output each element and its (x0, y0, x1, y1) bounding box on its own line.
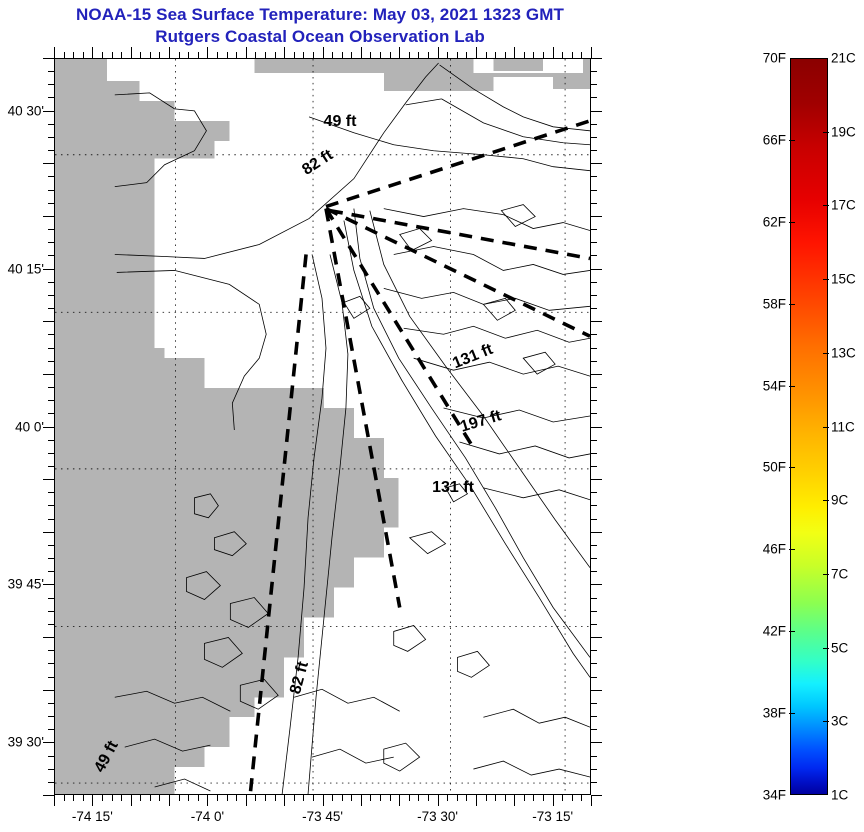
axis-tick (43, 584, 54, 585)
axis-tick (48, 400, 54, 401)
axis-tick (476, 795, 477, 806)
axis-tick (48, 611, 54, 612)
axis-tick (399, 47, 400, 58)
axis-tick (553, 47, 554, 58)
axis-tick (581, 795, 582, 801)
axis-tick (43, 532, 54, 533)
axis-tick (48, 466, 54, 467)
axis-tick (48, 387, 54, 388)
axis-tick (591, 361, 597, 362)
axis-tick (140, 795, 141, 801)
axis-tick (466, 795, 467, 801)
axis-tick (591, 58, 602, 59)
axis-tick (48, 663, 54, 664)
colorbar-label-celsius: 19C (831, 124, 856, 139)
axis-tick (92, 47, 93, 58)
axis-tick (591, 663, 597, 664)
axis-tick (591, 703, 597, 704)
axis-tick (179, 52, 180, 58)
axis-tick (121, 795, 122, 801)
axis-tick (591, 769, 597, 770)
axis-tick (591, 229, 597, 230)
axis-tick (207, 47, 208, 58)
axis-tick (112, 795, 113, 801)
x-axis-ticks-top (54, 46, 591, 58)
axis-tick (409, 52, 410, 58)
axis-tick (48, 255, 54, 256)
axis-tick (294, 795, 295, 801)
axis-tick (48, 756, 54, 757)
colorbar-label-fahrenheit: 58F (763, 296, 786, 311)
axis-tick (48, 598, 54, 599)
axis-tick (562, 52, 563, 58)
axis-tick (370, 795, 371, 801)
axis-tick (591, 255, 597, 256)
axis-tick (591, 400, 597, 401)
axis-tick (131, 47, 132, 58)
axis-tick (591, 387, 597, 388)
colorbar-tick (823, 353, 829, 354)
axis-tick (591, 637, 602, 638)
axis-tick (265, 795, 266, 801)
colorbar-label-celsius: 15C (831, 272, 856, 287)
colorbar-tick (789, 467, 795, 468)
axis-tick (332, 795, 333, 801)
axis-tick (207, 795, 208, 806)
colorbar-tick (823, 721, 829, 722)
axis-tick (447, 795, 448, 801)
axis-tick (438, 47, 439, 58)
axis-tick (48, 545, 54, 546)
axis-tick (48, 413, 54, 414)
axis-tick (188, 795, 189, 801)
x-axis-tick-label: -73 30' (417, 809, 458, 824)
axis-tick (48, 571, 54, 572)
colorbar-label-fahrenheit: 34F (763, 788, 786, 803)
axis-tick (92, 795, 93, 806)
axis-tick (409, 795, 410, 801)
axis-tick (217, 52, 218, 58)
axis-tick (48, 242, 54, 243)
colorbar-tick (789, 140, 795, 141)
axis-tick (275, 52, 276, 58)
axis-tick (303, 52, 304, 58)
axis-tick (591, 742, 602, 743)
axis-tick (102, 52, 103, 58)
axis-tick (236, 795, 237, 801)
axis-tick (236, 52, 237, 58)
axis-tick (581, 52, 582, 58)
axis-tick (43, 479, 54, 480)
axis-tick (457, 52, 458, 58)
axis-tick (514, 795, 515, 806)
axis-tick (43, 58, 54, 59)
axis-tick (159, 52, 160, 58)
axis-tick (591, 782, 597, 783)
title-line-2: Rutgers Coastal Ocean Observation Lab (0, 26, 640, 48)
axis-tick (43, 427, 54, 428)
axis-tick (48, 71, 54, 72)
axis-tick (390, 795, 391, 801)
colorbar-label-celsius: 7C (831, 566, 848, 581)
axis-tick (543, 795, 544, 801)
axis-tick (48, 519, 54, 520)
colorbar-label-celsius: 11C (831, 419, 855, 434)
axis-tick (562, 795, 563, 801)
axis-tick (332, 52, 333, 58)
axis-tick (169, 795, 170, 806)
axis-tick (486, 795, 487, 801)
colorbar-tick (823, 132, 829, 133)
axis-tick (313, 52, 314, 58)
axis-tick (591, 413, 597, 414)
axis-tick (43, 321, 54, 322)
axis-tick (48, 137, 54, 138)
axis-tick (591, 571, 597, 572)
axis-tick (140, 52, 141, 58)
axis-tick (48, 348, 54, 349)
axis-tick (476, 47, 477, 58)
axis-tick (447, 52, 448, 58)
colorbar-label-celsius: 3C (831, 714, 848, 729)
axis-tick (48, 176, 54, 177)
axis-tick (380, 795, 381, 801)
axis-tick (48, 229, 54, 230)
colorbar-tick (789, 713, 795, 714)
axis-tick (591, 795, 592, 806)
axis-tick (342, 795, 343, 801)
colorbar-tick (789, 304, 795, 305)
axis-tick (48, 84, 54, 85)
axis-tick (284, 47, 285, 58)
axis-tick (543, 52, 544, 58)
colorbar-label-celsius: 17C (831, 198, 856, 213)
y-axis-ticks-right (591, 58, 603, 795)
axis-tick (43, 374, 54, 375)
axis-tick (48, 492, 54, 493)
axis-tick (351, 52, 352, 58)
colorbar-tick (823, 279, 829, 280)
title-line-1: NOAA-15 Sea Surface Temperature: May 03,… (0, 4, 640, 26)
colorbar-tick (789, 222, 795, 223)
axis-tick (533, 52, 534, 58)
axis-tick (64, 52, 65, 58)
axis-tick (399, 795, 400, 806)
axis-tick (48, 677, 54, 678)
axis-tick (83, 52, 84, 58)
axis-tick (591, 163, 602, 164)
axis-tick (83, 795, 84, 801)
axis-tick (102, 795, 103, 801)
axis-tick (591, 97, 597, 98)
axis-tick (303, 795, 304, 801)
axis-tick (591, 519, 597, 520)
axis-tick (150, 52, 151, 58)
axis-tick (572, 52, 573, 58)
axis-tick (591, 137, 597, 138)
axis-tick (495, 795, 496, 801)
axis-tick (591, 176, 597, 177)
axis-tick (591, 374, 602, 375)
axis-tick (255, 795, 256, 801)
y-axis-tick-label: 39 30' (8, 735, 44, 750)
axis-tick (73, 795, 74, 801)
x-axis-tick-label: -73 15' (532, 809, 573, 824)
axis-tick (457, 795, 458, 801)
axis-tick (112, 52, 113, 58)
axis-tick (43, 163, 54, 164)
axis-tick (572, 795, 573, 801)
axis-tick (48, 703, 54, 704)
axis-tick (323, 47, 324, 58)
x-axis-tick-label: -74 15' (72, 809, 113, 824)
axis-tick (591, 466, 597, 467)
axis-tick (313, 795, 314, 801)
colorbar-label-fahrenheit: 50F (763, 460, 786, 475)
axis-tick (43, 742, 54, 743)
axis-tick (198, 795, 199, 801)
axis-tick (131, 795, 132, 806)
axis-tick (370, 52, 371, 58)
axis-tick (188, 52, 189, 58)
axis-tick (591, 124, 597, 125)
colorbar-label-celsius: 1C (831, 788, 848, 803)
axis-tick (342, 52, 343, 58)
axis-tick (591, 71, 597, 72)
axis-tick (591, 558, 597, 559)
axis-tick (361, 795, 362, 806)
axis-tick (217, 795, 218, 801)
axis-tick (54, 47, 55, 58)
axis-tick (591, 334, 597, 335)
axis-tick (323, 795, 324, 806)
axis-tick (48, 769, 54, 770)
axis-tick (48, 453, 54, 454)
axis-tick (48, 782, 54, 783)
axis-tick (591, 427, 602, 428)
colorbar-tick (823, 648, 829, 649)
axis-tick (591, 690, 602, 691)
colorbar-label-celsius: 21C (831, 51, 856, 66)
y-axis-tick-label: 40 30' (8, 103, 44, 118)
axis-tick (418, 795, 419, 801)
axis-tick (514, 47, 515, 58)
axis-tick (48, 729, 54, 730)
axis-tick (361, 47, 362, 58)
axis-tick (284, 795, 285, 806)
axis-tick (591, 598, 597, 599)
axis-tick (48, 558, 54, 559)
chart-title: NOAA-15 Sea Surface Temperature: May 03,… (0, 4, 640, 48)
x-axis-tick-label: -74 0' (191, 809, 224, 824)
colorbar-label-celsius: 13C (831, 345, 856, 360)
axis-tick (246, 795, 247, 806)
axis-tick (227, 52, 228, 58)
axis-tick (159, 795, 160, 801)
axis-tick (43, 795, 54, 796)
axis-tick (121, 52, 122, 58)
axis-tick (524, 52, 525, 58)
axis-tick (591, 532, 602, 533)
axis-tick (591, 84, 597, 85)
axis-tick (48, 150, 54, 151)
axis-tick (591, 479, 602, 480)
axis-tick (591, 242, 597, 243)
axis-tick (591, 716, 597, 717)
axis-tick (255, 52, 256, 58)
depth-contour-label: 131 ft (432, 479, 474, 497)
axis-tick (43, 111, 54, 112)
axis-tick (591, 348, 597, 349)
axis-tick (179, 795, 180, 801)
axis-tick (591, 203, 597, 204)
axis-tick (505, 52, 506, 58)
axis-tick (351, 795, 352, 801)
x-axis-tick-label: -73 45' (302, 809, 343, 824)
axis-tick (48, 505, 54, 506)
axis-tick (428, 52, 429, 58)
colorbar-tick (823, 574, 829, 575)
y-axis-tick-label: 39 45' (8, 577, 44, 592)
axis-tick (43, 216, 54, 217)
axis-tick (591, 611, 597, 612)
axis-tick (591, 729, 597, 730)
axis-tick (380, 52, 381, 58)
axis-tick (591, 308, 597, 309)
depth-contour-label: 49 ft (324, 113, 357, 131)
axis-tick (486, 52, 487, 58)
axis-tick (48, 203, 54, 204)
axis-tick (48, 361, 54, 362)
axis-tick (150, 795, 151, 801)
axis-tick (418, 52, 419, 58)
axis-tick (591, 650, 597, 651)
axis-tick (591, 453, 597, 454)
y-axis-tick-label: 40 0' (15, 419, 44, 434)
axis-tick (43, 690, 54, 691)
axis-tick (48, 295, 54, 296)
axis-tick (390, 52, 391, 58)
colorbar-tick (789, 549, 795, 550)
axis-tick (438, 795, 439, 806)
colorbar-label-fahrenheit: 46F (763, 542, 786, 557)
axis-tick (591, 216, 602, 217)
colorbar-tick (823, 427, 829, 428)
axis-tick (591, 624, 597, 625)
colorbar-label-fahrenheit: 70F (763, 51, 786, 66)
colorbar-tick (789, 386, 795, 387)
axis-tick (275, 795, 276, 801)
axis-tick (591, 795, 602, 796)
axis-tick (591, 545, 597, 546)
axis-tick (591, 584, 602, 585)
axis-tick (591, 295, 597, 296)
axis-tick (591, 505, 597, 506)
axis-tick (591, 677, 597, 678)
colorbar-label-fahrenheit: 62F (763, 214, 786, 229)
axis-tick (43, 269, 54, 270)
axis-tick (198, 52, 199, 58)
axis-tick (505, 795, 506, 801)
axis-tick (48, 650, 54, 651)
axis-tick (246, 47, 247, 58)
axis-tick (495, 52, 496, 58)
axis-tick (294, 52, 295, 58)
colorbar-tick (823, 205, 829, 206)
colorbar-label-fahrenheit: 66F (763, 132, 786, 147)
colorbar-label-fahrenheit: 42F (763, 624, 786, 639)
axis-tick (227, 795, 228, 801)
colorbar-label-celsius: 9C (831, 493, 848, 508)
axis-tick (591, 269, 602, 270)
axis-tick (73, 52, 74, 58)
axis-tick (64, 795, 65, 801)
axis-tick (591, 492, 597, 493)
colorbar-tick (823, 500, 829, 501)
axis-tick (54, 795, 55, 806)
colorbar-label-celsius: 5C (831, 640, 848, 655)
axis-tick (533, 795, 534, 801)
axis-tick (591, 756, 597, 757)
colorbar-label-fahrenheit: 38F (763, 706, 786, 721)
y-axis-tick-label: 40 15' (8, 261, 44, 276)
x-axis-ticks-bottom (54, 795, 591, 807)
axis-tick (265, 52, 266, 58)
axis-tick (48, 97, 54, 98)
axis-tick (591, 190, 597, 191)
axis-tick (553, 795, 554, 806)
axis-tick (48, 308, 54, 309)
axis-tick (591, 321, 602, 322)
axis-tick (591, 282, 597, 283)
axis-tick (48, 190, 54, 191)
axis-tick (48, 440, 54, 441)
colorbar-tick (789, 631, 795, 632)
axis-tick (591, 440, 597, 441)
axis-tick (43, 637, 54, 638)
colorbar-label-fahrenheit: 54F (763, 378, 786, 393)
axis-tick (591, 47, 592, 58)
axis-tick (524, 795, 525, 801)
axis-tick (48, 334, 54, 335)
axis-tick (48, 624, 54, 625)
axis-tick (591, 150, 597, 151)
axis-tick (466, 52, 467, 58)
axis-tick (591, 111, 602, 112)
axis-tick (48, 124, 54, 125)
axis-tick (48, 282, 54, 283)
axis-tick (48, 716, 54, 717)
axis-tick (169, 47, 170, 58)
axis-tick (428, 795, 429, 801)
